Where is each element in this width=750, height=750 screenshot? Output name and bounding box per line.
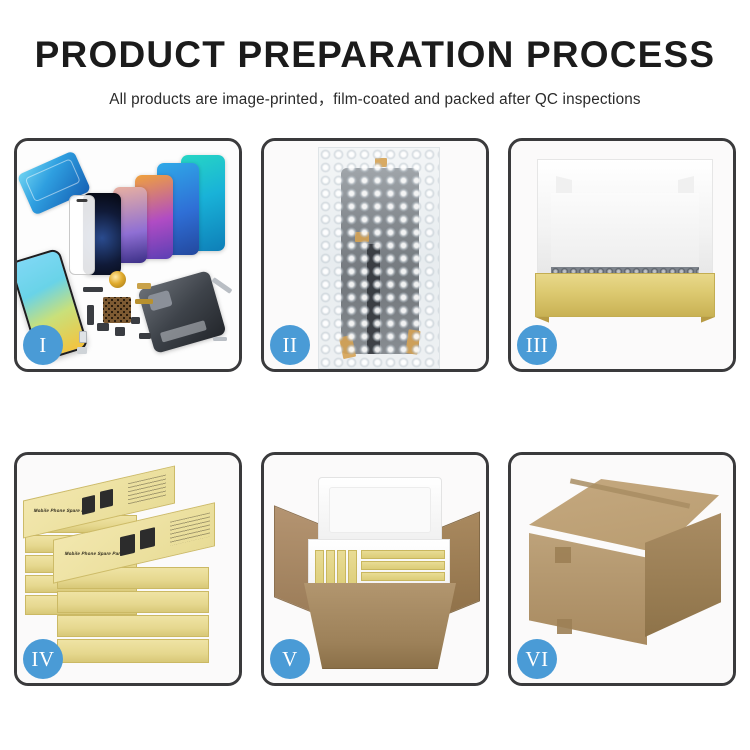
poly-bag-image	[318, 147, 440, 369]
retail-box-image	[57, 591, 209, 613]
box-artwork-swatch	[100, 489, 113, 509]
yellow-box-image	[361, 572, 445, 581]
step-number-badge: VI	[517, 639, 557, 679]
spare-part-image	[135, 299, 153, 304]
screen-protector-image	[69, 195, 95, 275]
step-number-badge: V	[270, 639, 310, 679]
spare-part-image	[79, 331, 87, 343]
retail-box-image	[57, 615, 209, 637]
yellow-box-image	[361, 550, 445, 559]
spare-part-image	[87, 305, 94, 325]
product-preparation-infographic: PRODUCT PREPARATION PROCESS All products…	[0, 0, 750, 750]
screw-grid-image	[103, 297, 131, 323]
process-step-6: VI	[508, 452, 736, 686]
lid-inner-face	[551, 193, 699, 271]
process-step-1: I	[14, 138, 242, 372]
process-step-grid: I II	[14, 138, 736, 686]
header: PRODUCT PREPARATION PROCESS All products…	[0, 0, 750, 109]
notch-shape	[77, 199, 88, 202]
foam-lid-image	[318, 477, 442, 543]
step-number-badge: IV	[23, 639, 63, 679]
spare-part-image	[97, 323, 109, 331]
bubble-wrap-texture	[319, 148, 439, 368]
box-label-text: Mobile Phone Spare Parts	[64, 551, 125, 556]
box-artwork-swatch	[82, 495, 95, 515]
spare-part-image	[137, 283, 151, 289]
yellow-box-tray-image	[535, 273, 715, 317]
yellow-box-image	[361, 561, 445, 570]
step-number-badge: II	[270, 325, 310, 365]
process-step-3: III	[508, 138, 736, 372]
step-number-badge: I	[23, 325, 63, 365]
page-subtitle: All products are image-printed，film-coat…	[0, 87, 750, 109]
spare-part-image	[139, 333, 151, 339]
box-artwork-swatch	[120, 534, 135, 556]
spare-part-image	[83, 287, 103, 292]
box-spec-lines	[170, 512, 210, 545]
carton-tape-image	[557, 619, 572, 634]
spare-part-image	[131, 317, 140, 324]
spare-part-image	[115, 327, 125, 336]
process-step-5: V	[261, 452, 489, 686]
process-step-2: II	[261, 138, 489, 372]
carton-body-image	[304, 583, 456, 669]
carton-front-face	[529, 533, 647, 645]
copper-coil-image	[109, 271, 126, 288]
step-number-badge: III	[517, 325, 557, 365]
page-title: PRODUCT PREPARATION PROCESS	[0, 34, 750, 75]
process-step-4: Mobile Phone Spare Parts Mobile Phone Sp…	[14, 452, 242, 686]
box-artwork-swatch	[140, 527, 155, 549]
carton-tape-image	[555, 547, 571, 563]
spare-part-image	[77, 347, 87, 354]
retail-box-image	[57, 639, 209, 663]
box-spec-lines	[128, 475, 166, 506]
tool-image	[213, 337, 227, 341]
